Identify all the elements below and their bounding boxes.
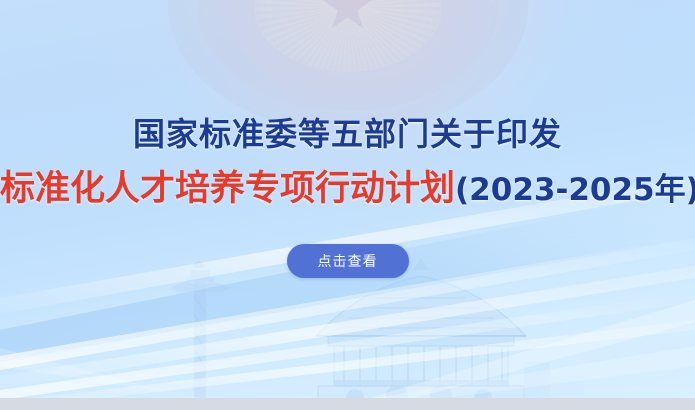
emblem-sparkle-dots xyxy=(168,0,528,132)
light-ribbon-decoration xyxy=(0,180,695,410)
emblem-ring-inner xyxy=(226,0,470,92)
huabiao-column xyxy=(170,262,230,410)
headline-year-range: (2023-2025年) xyxy=(455,172,695,208)
footer-strip xyxy=(0,398,695,410)
emblem-ring-outer xyxy=(168,0,528,132)
national-emblem-decoration xyxy=(168,0,528,132)
view-detail-button[interactable]: 点击查看 xyxy=(287,244,409,278)
notice-banner: 国家标准委等五部门关于印发 标准化人才培养专项行动计划(2023-2025年)的… xyxy=(0,0,695,410)
emblem-core xyxy=(254,0,442,72)
cta-container: 点击查看 xyxy=(0,244,695,278)
headline-block: 国家标准委等五部门关于印发 标准化人才培养专项行动计划(2023-2025年)的… xyxy=(0,118,695,207)
headline-line-2: 标准化人才培养专项行动计划(2023-2025年)的通知 xyxy=(0,172,695,207)
star-icon xyxy=(321,0,375,33)
headline-plan-name: 标准化人才培养专项行动计划 xyxy=(0,169,455,209)
emblem-ring-mid xyxy=(198,0,498,111)
headline-line-1: 国家标准委等五部门关于印发 xyxy=(0,118,695,150)
emblem-rays xyxy=(255,0,441,71)
gate-colonnade xyxy=(328,336,514,386)
